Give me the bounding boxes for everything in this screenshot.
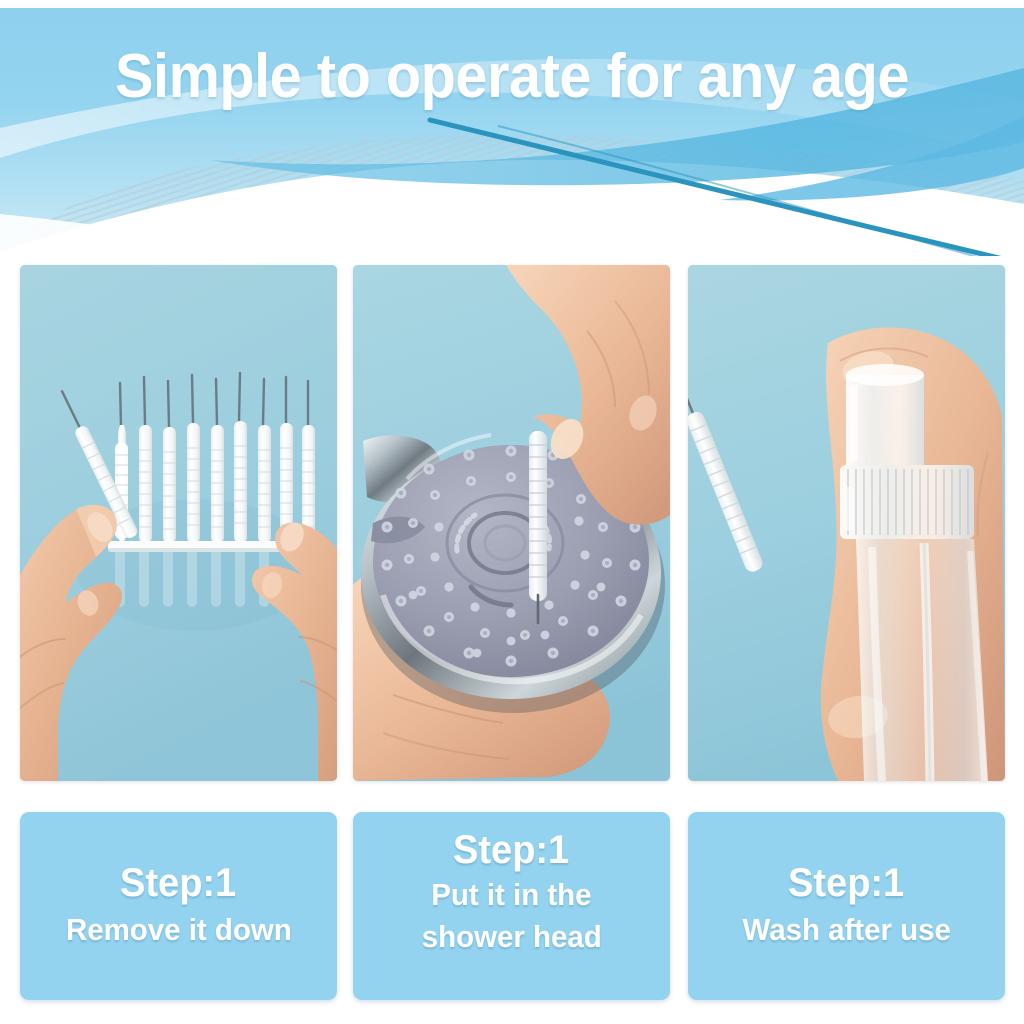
step-description-line1: Put it in the xyxy=(431,875,591,915)
step-label: Step:1 xyxy=(453,828,569,873)
caption-row: Step:1 Remove it down Step:1 Put it in t… xyxy=(0,812,1024,1004)
caption-card-step-3: Step:1 Wash after use xyxy=(688,812,1005,1000)
infographic-page: Simple to operate for any age xyxy=(0,0,1024,1024)
panel-row xyxy=(0,265,1024,781)
caption-card-step-1: Step:1 Remove it down xyxy=(20,812,337,1000)
bottle-collar xyxy=(840,465,974,539)
photo-panel-insert-brush xyxy=(353,265,670,781)
photo-panel-remove-brush xyxy=(20,265,337,781)
inserted-brush xyxy=(529,431,547,623)
illustration-spray-bottle xyxy=(688,265,1005,781)
step-description-line2: shower head xyxy=(421,917,601,957)
step-label: Step:1 xyxy=(120,861,236,906)
step-label: Step:1 xyxy=(788,861,904,906)
caption-card-step-2: Step:1 Put it in the shower head xyxy=(353,812,670,1000)
step-description: Remove it down xyxy=(66,910,292,950)
header-banner: Simple to operate for any age xyxy=(0,8,1024,256)
photo-panel-wash-brush xyxy=(688,265,1005,781)
page-title: Simple to operate for any age xyxy=(36,46,988,108)
step-description: Wash after use xyxy=(742,910,950,950)
illustration-shower-head xyxy=(353,265,670,781)
illustration-brush-strip xyxy=(20,265,337,781)
